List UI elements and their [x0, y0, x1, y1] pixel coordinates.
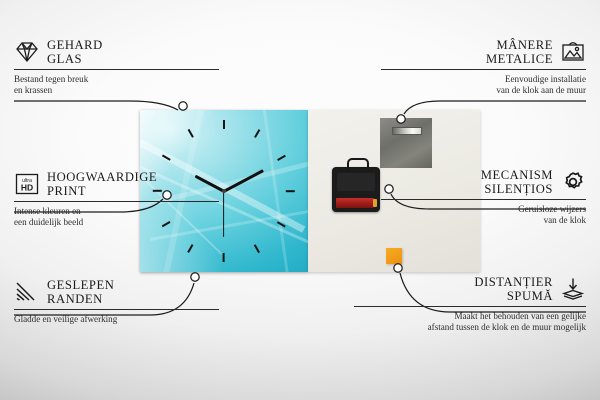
ultra-hd-icon: ultra HD — [14, 172, 40, 196]
feature-tempered-glass: GEHARD GLAS Bestand tegen breuk en krass… — [14, 38, 219, 96]
divider — [354, 306, 586, 307]
metal-hanger-plate — [380, 118, 432, 168]
battery-terminal — [373, 199, 377, 207]
feature-title-line1: MECANISM — [481, 168, 553, 182]
feature-subtitle-line1: Bestand tegen breuk — [14, 74, 219, 85]
feature-subtitle-line1: Intense kleuren en — [14, 206, 219, 217]
feature-subtitle-line1: Eenvoudige installatie — [381, 74, 586, 85]
feature-title-line2: RANDEN — [47, 292, 114, 306]
leader-line-tempered-glass — [14, 101, 178, 110]
feature-subtitle-line1: Geruisloze wijzers — [381, 204, 586, 215]
feature-title-line1: MÂNERE — [486, 38, 553, 52]
feature-title-line1: GEHARD — [47, 38, 103, 52]
divider — [381, 199, 586, 200]
battery — [336, 198, 374, 208]
diamond-icon — [14, 40, 40, 64]
feature-polished-edges: GESLEPEN RANDEN Gladde en veilige afwerk… — [14, 278, 219, 325]
clock-tick — [254, 129, 260, 138]
feature-hd-print: ultra HD HOOGWAARDIGE PRINT Intense kleu… — [14, 170, 219, 228]
clock-tick — [286, 190, 295, 192]
feature-title-line1: DISTANȚIER — [474, 275, 553, 289]
feature-title-line2: PRINT — [47, 184, 157, 198]
feature-subtitle-line1: Maakt het behouden van een gelijke — [354, 311, 586, 322]
clock-center-pin — [222, 189, 226, 193]
feature-foam-spacer: DISTANȚIER SPUMĂ Maakt het behouden van … — [354, 275, 586, 333]
clock-tick — [254, 244, 260, 253]
infographic-canvas: GEHARD GLAS Bestand tegen breuk en krass… — [0, 0, 600, 400]
leader-dot-tempered-glass — [179, 102, 187, 110]
divider — [14, 201, 219, 202]
clock-tick — [223, 120, 225, 129]
feature-title-line1: HOOGWAARDIGE — [47, 170, 157, 184]
divider — [381, 69, 586, 70]
hanger-slot — [392, 127, 422, 135]
feature-subtitle-line2: van de klok aan de muur — [381, 85, 586, 96]
arrow-down-layers-icon — [560, 277, 586, 301]
feature-subtitle-line2: afstand tussen de klok en de muur mogeli… — [354, 322, 586, 333]
feature-subtitle-line2: en krassen — [14, 85, 219, 96]
feature-subtitle-line2: een duidelijk beeld — [14, 217, 219, 228]
feature-subtitle-line2: van de klok — [381, 215, 586, 226]
clock-tick — [277, 155, 286, 161]
mechanism-detail — [337, 173, 375, 191]
diagonal-lines-icon — [14, 280, 40, 304]
divider — [14, 69, 219, 70]
feature-title-line2: SPUMĂ — [474, 289, 553, 303]
clock-tick — [188, 244, 194, 253]
gear-icon — [560, 170, 586, 194]
clock-second-hand — [223, 191, 224, 237]
feature-silent-mechanism: MECANISM SILENȚIOS Geruisloze wijzers va… — [381, 168, 586, 226]
feature-title-line2: GLAS — [47, 52, 103, 66]
feature-subtitle-line1: Gladde en veilige afwerking — [14, 314, 219, 325]
feature-title-line2: SILENȚIOS — [481, 182, 553, 196]
feature-metal-handles: MÂNERE METALICE Eenvoudige installatie v… — [381, 38, 586, 96]
hanger-loop — [347, 158, 369, 172]
picture-frame-hanger-icon — [560, 40, 586, 64]
feature-title-line2: METALICE — [486, 52, 553, 66]
clock-mechanism — [332, 167, 380, 212]
divider — [14, 309, 219, 310]
svg-text:HD: HD — [21, 183, 33, 193]
foam-spacer — [386, 248, 402, 264]
clock-tick — [223, 253, 225, 262]
feature-title-line1: GESLEPEN — [47, 278, 114, 292]
